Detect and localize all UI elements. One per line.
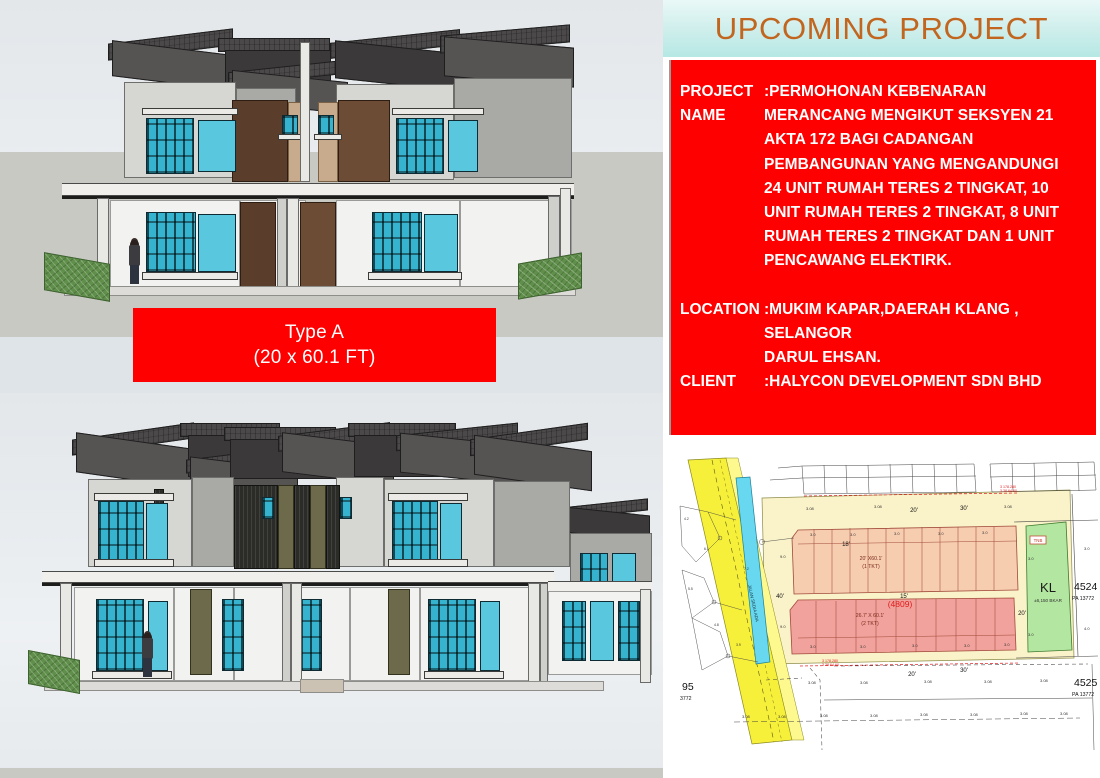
svg-text:20': 20' (908, 672, 916, 678)
svg-text:TNB: TNB (1034, 538, 1043, 543)
svg-text:6.1: 6.1 (704, 547, 709, 551)
svg-text:3.0: 3.0 (810, 532, 816, 537)
svg-text:7.2: 7.2 (744, 567, 749, 571)
svg-text:3.0: 3.0 (860, 644, 866, 649)
type-a-caption-line1: Type A (285, 320, 344, 345)
site-plan-drawing: JALAN SEDIA ADA 20' X60.1' (1 TKT) (674, 450, 1099, 768)
cadastral-site-plan: JALAN SEDIA ADA 20' X60.1' (1 TKT) (674, 450, 1099, 768)
svg-text:3.08: 3.08 (860, 680, 869, 685)
svg-text:3.08: 3.08 (1020, 711, 1029, 716)
svg-text:3.08: 3.08 (806, 506, 815, 511)
svg-text:3.0: 3.0 (938, 531, 944, 536)
scale-figure-2 (140, 631, 155, 681)
svg-text:30': 30' (960, 506, 968, 512)
svg-text:3.0: 3.0 (894, 531, 900, 536)
annotation-4809: (4809) (888, 599, 913, 609)
svg-text:(1 TKT): (1 TKT) (862, 564, 880, 570)
svg-text:3.9: 3.9 (736, 643, 741, 647)
slide-page: Type A (20 x 60.1 FT) (0, 0, 1100, 778)
info-value-project-name: :PERMOHONAN KEBENARAN MERANCANG MENGIKUT… (764, 80, 1092, 274)
svg-text:26.7' X 60.1': 26.7' X 60.1' (856, 613, 885, 619)
svg-text:5.5: 5.5 (688, 587, 693, 591)
svg-text:4.2: 4.2 (684, 517, 689, 521)
svg-text:3.0: 3.0 (912, 643, 918, 648)
type-a-caption-line2: (20 x 60.1 FT) (253, 345, 375, 370)
svg-text:4524: 4524 (1074, 581, 1098, 593)
svg-text:3.0: 3.0 (982, 530, 988, 535)
svg-text:KL: KL (1040, 580, 1056, 595)
svg-text:4.0: 4.0 (1084, 626, 1090, 631)
page-title: UPCOMING PROJECT (715, 11, 1048, 47)
svg-text:PA 13772: PA 13772 (1072, 692, 1094, 698)
svg-text:3.08: 3.08 (1060, 711, 1069, 716)
type-a-caption: Type A (20 x 60.1 FT) (133, 308, 496, 382)
svg-text:95: 95 (682, 681, 694, 693)
info-row-location: LOCATION :MUKIM KAPAR,DAERAH KLANG , SEL… (680, 298, 1092, 371)
svg-text:3.08: 3.08 (1040, 678, 1049, 683)
info-row-project-name: PROJECT NAME :PERMOHONAN KEBENARAN MERAN… (680, 80, 1092, 274)
svg-text:3.0: 3.0 (1084, 546, 1090, 551)
info-label-project-name: PROJECT NAME (680, 80, 764, 274)
svg-text:3.0: 3.0 (1028, 632, 1034, 637)
svg-text:3.08: 3.08 (1004, 504, 1013, 509)
svg-text:30': 30' (960, 668, 968, 674)
info-value-location: :MUKIM KAPAR,DAERAH KLANG , SELANGOR DAR… (764, 298, 1092, 371)
svg-text:9.0: 9.0 (780, 554, 786, 559)
svg-text:PA 13772: PA 13772 (1072, 596, 1094, 602)
svg-text:3.08: 3.08 (742, 714, 751, 719)
scale-figure (127, 238, 142, 286)
svg-text:18': 18' (842, 542, 850, 548)
info-label-location: LOCATION (680, 298, 764, 371)
project-info-box: PROJECT NAME :PERMOHONAN KEBENARAN MERAN… (671, 60, 1096, 435)
svg-text:3.08: 3.08 (808, 680, 817, 685)
svg-text:20': 20' (910, 508, 918, 514)
svg-text:(2 TKT): (2 TKT) (861, 621, 879, 627)
svg-text:3.08: 3.08 (924, 679, 933, 684)
svg-text:3.08: 3.08 (970, 712, 979, 717)
svg-text:40': 40' (776, 594, 784, 600)
svg-text:9.0: 9.0 (780, 624, 786, 629)
info-spacer (680, 274, 1092, 298)
svg-text:3 38 64.60: 3 38 64.60 (822, 663, 839, 667)
svg-text:3.08: 3.08 (870, 713, 879, 718)
type-b-c-elevation-render: Type B & Type C (27 x 60.1 FT) & (26x 60… (0, 393, 663, 778)
project-info-panel: UPCOMING PROJECT PROJECT NAME :PERMOHONA… (663, 0, 1100, 778)
info-row-client: CLIENT :HALYCON DEVELOPMENT SDN BHD (680, 370, 1092, 394)
svg-text:3 38 64.60: 3 38 64.60 (1000, 489, 1017, 493)
svg-text:4525: 4525 (1074, 677, 1098, 689)
info-value-client: :HALYCON DEVELOPMENT SDN BHD (764, 370, 1092, 394)
svg-text:3.08: 3.08 (920, 712, 929, 717)
ground-plane-2 (0, 768, 663, 778)
svg-text:3.0: 3.0 (1028, 556, 1034, 561)
type-a-elevation-render: Type A (20 x 60.1 FT) (0, 0, 663, 393)
svg-text:3.0: 3.0 (850, 532, 856, 537)
upcoming-project-header: UPCOMING PROJECT (663, 0, 1100, 57)
lot-block-upper: 20' X60.1' (1 TKT) (792, 526, 1018, 594)
svg-text:3.0: 3.0 (964, 643, 970, 648)
svg-text:3772: 3772 (680, 696, 692, 702)
svg-text:3.0: 3.0 (1004, 642, 1010, 647)
svg-text:20': 20' (1018, 611, 1026, 617)
svg-text:3.08: 3.08 (778, 714, 787, 719)
svg-text:±6,150 BKAR: ±6,150 BKAR (1034, 598, 1062, 603)
svg-text:3.0: 3.0 (810, 644, 816, 649)
svg-text:20' X60.1': 20' X60.1' (860, 556, 883, 562)
svg-text:3.08: 3.08 (874, 504, 883, 509)
renders-panel: Type A (20 x 60.1 FT) (0, 0, 663, 778)
info-label-client: CLIENT (680, 370, 764, 394)
svg-text:4.8: 4.8 (714, 623, 719, 627)
svg-text:15': 15' (900, 594, 908, 600)
svg-text:3.08: 3.08 (820, 713, 829, 718)
svg-text:3.08: 3.08 (984, 679, 993, 684)
